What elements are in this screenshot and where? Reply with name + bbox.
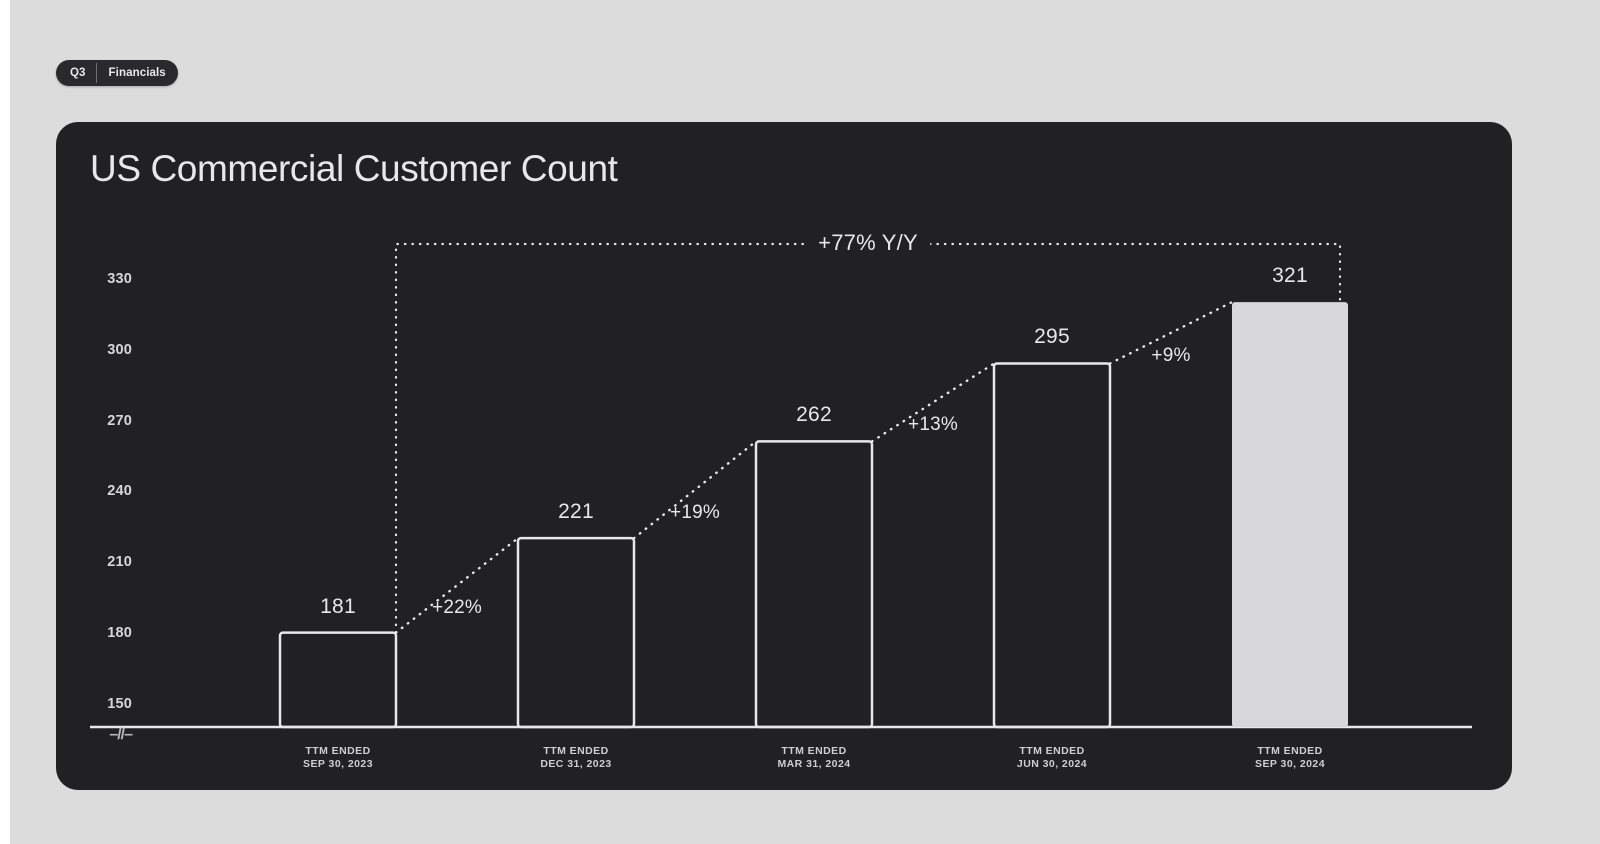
growth-annotation-label: +22%	[432, 597, 482, 619]
x-axis-tick-label: TTM ENDEDDEC 31, 2023	[540, 745, 611, 771]
x-tick-line2: MAR 31, 2024	[777, 758, 850, 771]
slide-page: Q3 Financials US Commercial Customer Cou…	[0, 0, 1600, 844]
x-tick-line2: SEP 30, 2024	[1255, 758, 1325, 771]
axis-break-icon: –//–	[92, 726, 132, 744]
x-tick-line1: TTM ENDED	[543, 745, 608, 757]
x-tick-line1: TTM ENDED	[1019, 745, 1084, 757]
x-tick-line2: JUN 30, 2024	[1017, 758, 1087, 771]
growth-annotation-label: +19%	[670, 502, 720, 524]
y-axis-tick-label: 210	[92, 554, 132, 570]
x-axis-tick-label: TTM ENDEDSEP 30, 2023	[303, 745, 373, 771]
chart-card: US Commercial Customer Count 15018021024…	[56, 122, 1512, 790]
y-axis-tick-label: 240	[92, 483, 132, 499]
x-axis-tick-label: TTM ENDEDMAR 31, 2024	[777, 745, 850, 771]
bar[interactable]	[518, 538, 634, 727]
bar-value-label: 295	[1034, 325, 1070, 349]
x-tick-line2: DEC 31, 2023	[540, 758, 611, 771]
y-axis-tick-label: 330	[92, 271, 132, 287]
y-axis-tick-label: 300	[92, 342, 132, 358]
growth-annotation-label: +13%	[908, 414, 958, 436]
y-axis-tick-label: 270	[92, 413, 132, 429]
x-tick-line1: TTM ENDED	[781, 745, 846, 757]
x-axis-tick-label: TTM ENDEDSEP 30, 2024	[1255, 745, 1325, 771]
breadcrumb-quarter[interactable]: Q3	[56, 60, 96, 86]
growth-annotation-label: +9%	[1151, 345, 1190, 367]
y-axis-tick-label: 180	[92, 625, 132, 641]
bar-value-label: 221	[558, 500, 594, 524]
bar[interactable]	[994, 363, 1110, 727]
bar[interactable]	[280, 633, 396, 727]
bar-value-label: 262	[796, 403, 832, 427]
bar-value-label: 181	[320, 595, 356, 619]
chart-canvas	[56, 122, 1512, 790]
bar-value-label: 321	[1272, 264, 1308, 288]
page-left-edge	[0, 0, 10, 844]
x-tick-line1: TTM ENDED	[1257, 745, 1322, 757]
x-axis-tick-label: TTM ENDEDJUN 30, 2024	[1017, 745, 1087, 771]
x-tick-line2: SEP 30, 2023	[303, 758, 373, 771]
yoy-bracket	[396, 244, 1340, 633]
yoy-summary-label: +77% Y/Y	[806, 230, 930, 256]
bar-chart: 150180210240270300330–//–181TTM ENDEDSEP…	[56, 122, 1512, 790]
breadcrumb-section[interactable]: Financials	[97, 60, 178, 86]
x-tick-line1: TTM ENDED	[305, 745, 370, 757]
breadcrumb[interactable]: Q3 Financials	[56, 60, 178, 86]
y-axis-tick-label: 150	[92, 696, 132, 712]
bar[interactable]	[756, 441, 872, 727]
bar[interactable]	[1232, 302, 1348, 727]
